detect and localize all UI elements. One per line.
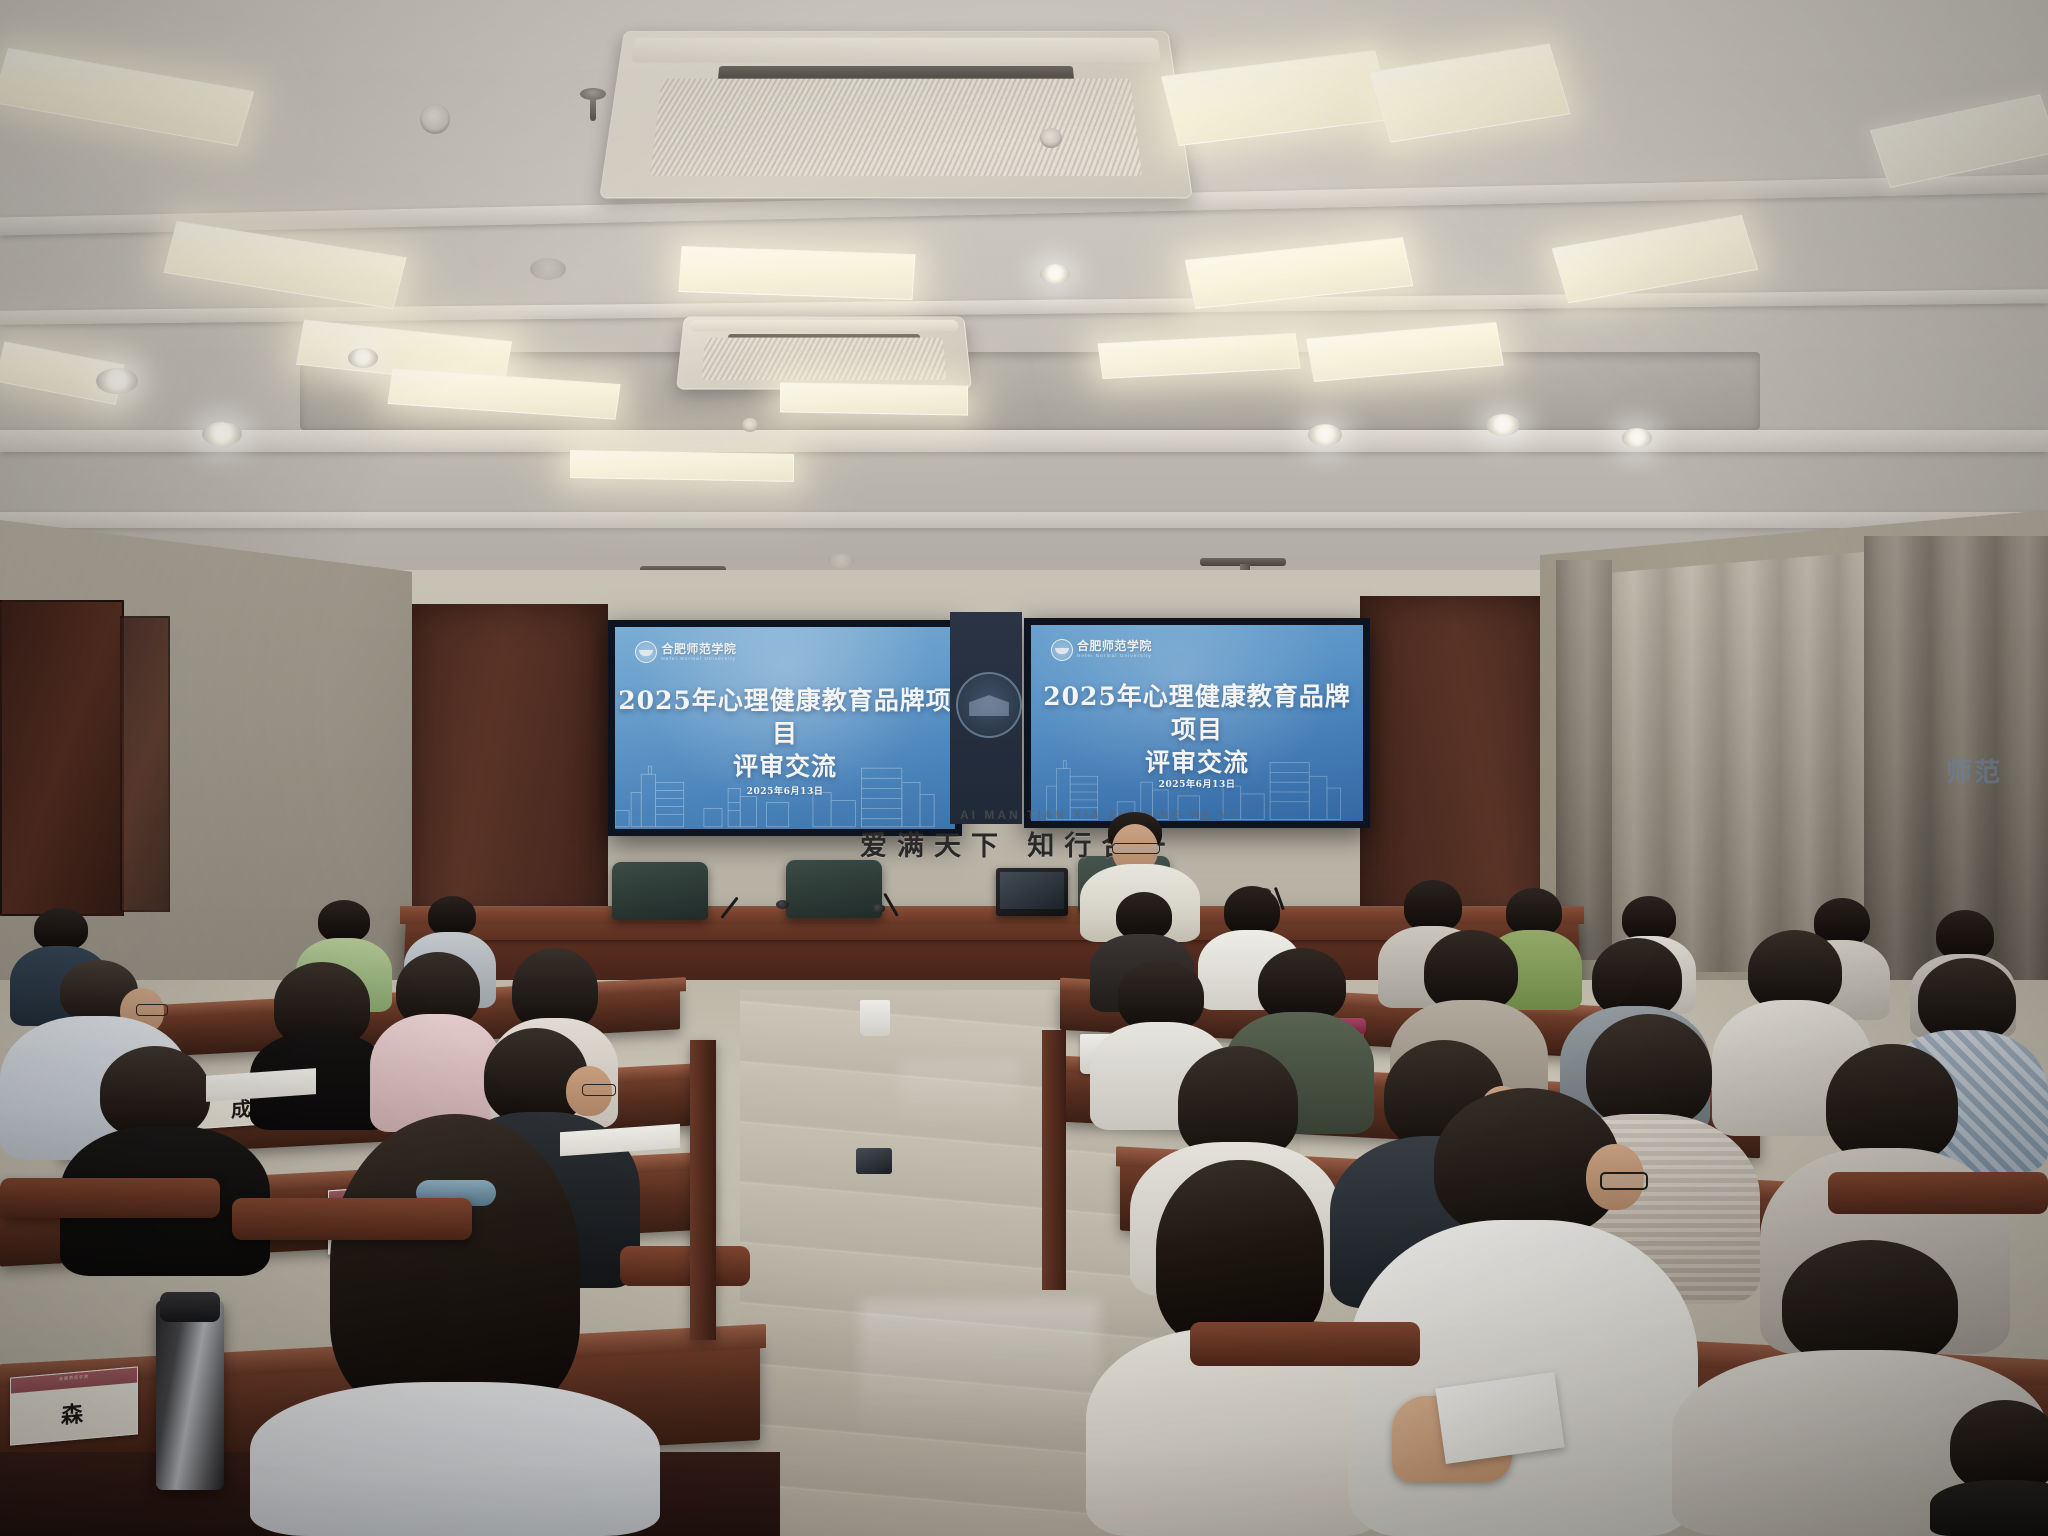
ceiling-downlight xyxy=(96,368,138,394)
projection-screen-left: 合肥师范学院 Hefei Normal University 2025年心理健康… xyxy=(608,620,962,836)
person-hair xyxy=(100,1046,210,1138)
ac-grille xyxy=(701,338,946,380)
audience-member xyxy=(1930,1400,2048,1536)
person-hair xyxy=(330,1114,580,1414)
slide-title-line2: 评审交流 xyxy=(615,750,955,783)
chair-front-left xyxy=(612,862,708,920)
wood-wall-panel-left xyxy=(408,604,608,934)
slide-title: 2025年心理健康教育品牌项目 评审交流 xyxy=(615,684,955,783)
slide-org-name-en: Hefei Normal University xyxy=(661,657,736,662)
slide-logo: 合肥师范学院 Hefei Normal University xyxy=(635,641,736,663)
slide-title-line1: 2025年心理健康教育品牌项目 xyxy=(1031,680,1363,746)
person-glasses-icon xyxy=(136,1004,168,1016)
name-card-name: 森 xyxy=(11,1382,137,1444)
university-seal-icon xyxy=(1051,639,1073,661)
microphone-head xyxy=(872,904,885,913)
ceiling-downlight xyxy=(348,348,378,368)
person-hair xyxy=(1950,1400,2048,1492)
ac-lip xyxy=(631,38,1161,63)
conference-room-photo: 合肥师范学院 Hefei Normal University 2025年心理健康… xyxy=(0,0,2048,1536)
slide-left: 合肥师范学院 Hefei Normal University 2025年心理健康… xyxy=(615,627,955,829)
floor-reflection xyxy=(900,1060,1020,1130)
person-hair xyxy=(1506,888,1562,936)
chair-back xyxy=(1828,1172,2048,1214)
slide-org-name-cn: 合肥师范学院 xyxy=(1077,640,1152,652)
person-hair xyxy=(1782,1240,1958,1368)
chair-back xyxy=(232,1198,472,1240)
ceiling-downlight xyxy=(1486,414,1520,436)
smoke-detector xyxy=(1040,128,1062,148)
audience-member xyxy=(250,962,390,1130)
water-bottle-cap[interactable] xyxy=(160,1292,220,1322)
person-hair xyxy=(1826,1044,1958,1164)
aisle-partition xyxy=(1042,1030,1066,1290)
chair-front-center xyxy=(786,860,882,918)
person-glasses-icon xyxy=(1600,1172,1648,1190)
water-bottle[interactable] xyxy=(156,1300,224,1490)
person-hair xyxy=(1224,886,1280,936)
smoke-detector xyxy=(420,104,450,134)
person-hair xyxy=(318,900,370,942)
slide-org-name-en: Hefei Normal University xyxy=(1077,654,1152,659)
ceiling-downlight xyxy=(1040,264,1070,284)
desktop-monitor xyxy=(996,868,1068,916)
slide-logo-text: 合肥师范学院 Hefei Normal University xyxy=(661,643,736,662)
ceiling-band xyxy=(0,430,2048,452)
name-card: 合肥师范学院 森 xyxy=(10,1366,138,1445)
person-hair xyxy=(1936,910,1994,960)
floor-reflection xyxy=(860,1300,1100,1440)
person-hair xyxy=(34,908,88,950)
wall-banner-char: 师范 xyxy=(950,752,2048,789)
microphone-head xyxy=(776,900,789,909)
university-seal-icon xyxy=(635,641,657,663)
person-body xyxy=(250,1382,660,1536)
ceiling-downlight xyxy=(530,258,566,280)
ac-grille xyxy=(650,78,1141,175)
door-left[interactable] xyxy=(0,600,124,916)
chair-back xyxy=(0,1178,220,1218)
paper-cup[interactable] xyxy=(860,1000,890,1036)
chair-back xyxy=(620,1246,750,1286)
aisle-partition xyxy=(690,1040,716,1340)
ceiling-downlight xyxy=(1308,424,1342,446)
ceiling-light-panel xyxy=(570,450,794,482)
university-emblem xyxy=(956,672,1022,738)
slide-logo: 合肥师范学院 Hefei Normal University xyxy=(1051,639,1152,661)
monitor-screen xyxy=(1000,872,1063,909)
chair-back xyxy=(1190,1322,1420,1366)
fire-sprinkler xyxy=(580,88,606,100)
ceiling-downlight xyxy=(1622,428,1652,448)
person-hair xyxy=(1258,948,1346,1022)
slide-logo-text: 合肥师范学院 Hefei Normal University xyxy=(1077,640,1152,659)
ceiling-ac-unit xyxy=(676,316,972,389)
person-hair xyxy=(1156,1160,1324,1346)
slide-org-name-cn: 合肥师范学院 xyxy=(661,643,736,655)
person-body xyxy=(1930,1480,2048,1536)
slide-right: 合肥师范学院 Hefei Normal University 2025年心理健康… xyxy=(1031,625,1363,821)
ceiling-downlight xyxy=(828,554,854,568)
person-glasses-icon xyxy=(582,1084,616,1096)
ceiling-light-panel xyxy=(780,382,968,415)
slide-title-line1: 2025年心理健康教育品牌项目 xyxy=(615,684,955,750)
smoke-detector xyxy=(742,418,758,432)
person-hair xyxy=(428,896,476,936)
tablet-device[interactable] xyxy=(856,1148,892,1174)
ceiling-ac-unit xyxy=(599,31,1193,199)
door-left-inner[interactable] xyxy=(120,616,170,912)
person-hair xyxy=(1116,892,1172,940)
speaker-glasses-icon xyxy=(1112,843,1160,854)
ceiling-band xyxy=(0,512,2048,528)
projection-screen-right: 合肥师范学院 Hefei Normal University 2025年心理健康… xyxy=(1024,618,1370,828)
ceiling-downlight xyxy=(202,422,242,446)
ac-lip xyxy=(689,320,959,331)
slide-date: 2025年6月13日 xyxy=(615,784,955,797)
person-hair xyxy=(1404,880,1462,932)
audience-member xyxy=(250,1114,660,1536)
ceiling-light-panel xyxy=(678,246,915,300)
